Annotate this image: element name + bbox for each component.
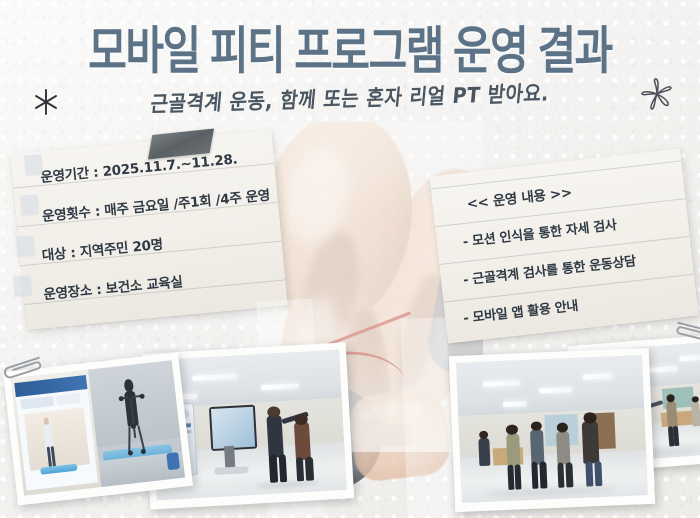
tape-square [16,235,35,255]
page-subtitle: 근골격계 운동, 함께 또는 혼자 리얼 PT 받아요. [0,73,700,123]
photo-motion-app [3,352,193,505]
tape-square [13,275,32,295]
info-line-target: 대상 : 지역주민 20명 [41,233,164,264]
hand-gripping-dumbbell [347,386,453,483]
content-panel: << 운영 내용 >> - 모션 인식을 통한 자세 검사 - 근골격계 검사를… [429,148,698,343]
info-line-frequency: 운영횟수 : 매주 금요일 /주1회 /4주 운영 [41,184,271,225]
info-line-location: 운영장소 : 보건소 교육실 [43,270,184,303]
poster-canvas: 모바일 피티 프로그램 운영 결과 근골격계 운동, 함께 또는 혼자 리얼 P… [0,0,700,518]
info-line-period: 운영기간 : 2025.11.7.~11.28. [39,147,238,186]
content-item-posture: - 모션 인식을 통한 자세 검사 [462,214,618,250]
page-title: 모바일 피티 프로그램 운영 결과 [0,26,700,77]
tape-square [20,194,39,214]
content-panel-header: << 운영 내용 >> [465,181,572,213]
photo-stretching-group [449,348,655,512]
tape-square [24,154,43,174]
info-panel: 운영기간 : 2025.11.7.~11.28. 운영횟수 : 매주 금요일 /… [10,130,287,330]
title-block: 모바일 피티 프로그램 운영 결과 근골격계 운동, 함께 또는 혼자 리얼 P… [0,26,700,111]
content-item-app: - 모바일 앱 활용 안내 [462,295,579,327]
